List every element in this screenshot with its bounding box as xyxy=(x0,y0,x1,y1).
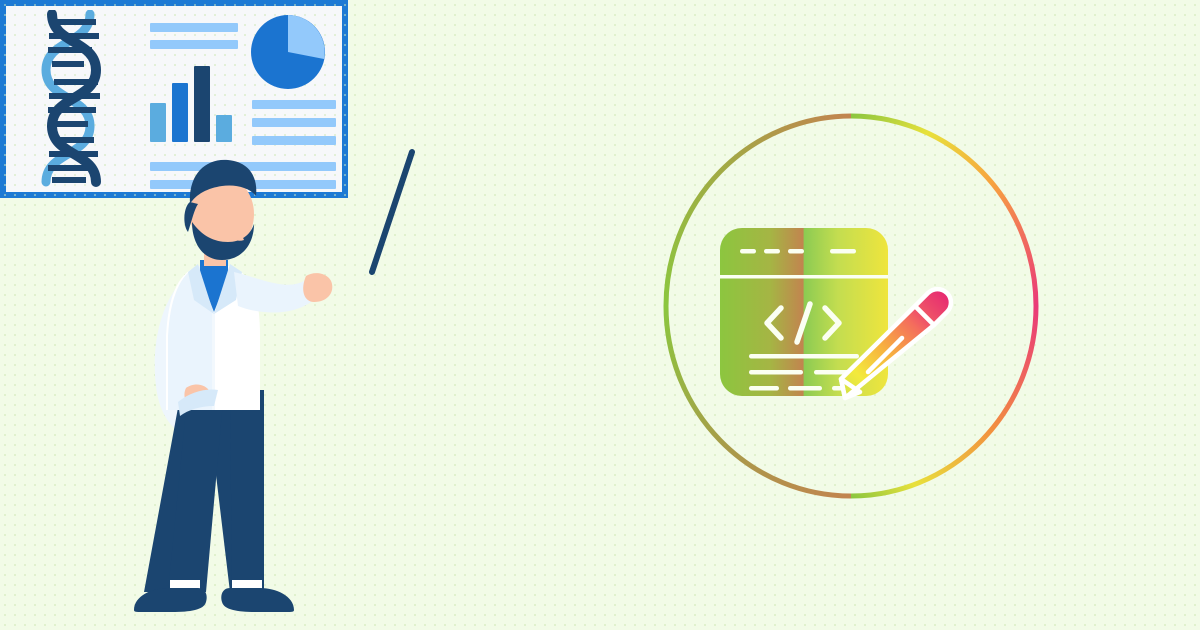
board-text-bar xyxy=(252,100,336,109)
bar-chart-bar xyxy=(172,83,188,142)
dna-double-helix xyxy=(24,10,120,192)
pie-chart xyxy=(248,12,328,92)
bar-chart-bar xyxy=(216,115,232,142)
bar-chart xyxy=(150,60,234,142)
shoe-right xyxy=(221,588,294,612)
pie-slice-minor xyxy=(288,15,325,59)
bar-chart-bar xyxy=(194,66,210,142)
board-text-bar xyxy=(150,40,238,49)
bar-chart-bar xyxy=(150,103,166,142)
scientist-character xyxy=(110,140,360,620)
illustration-canvas xyxy=(0,0,1200,630)
board-text-bar xyxy=(252,118,336,127)
board-text-bar xyxy=(150,23,238,32)
hand-right xyxy=(303,273,332,302)
trouser-leg-right xyxy=(230,390,264,592)
